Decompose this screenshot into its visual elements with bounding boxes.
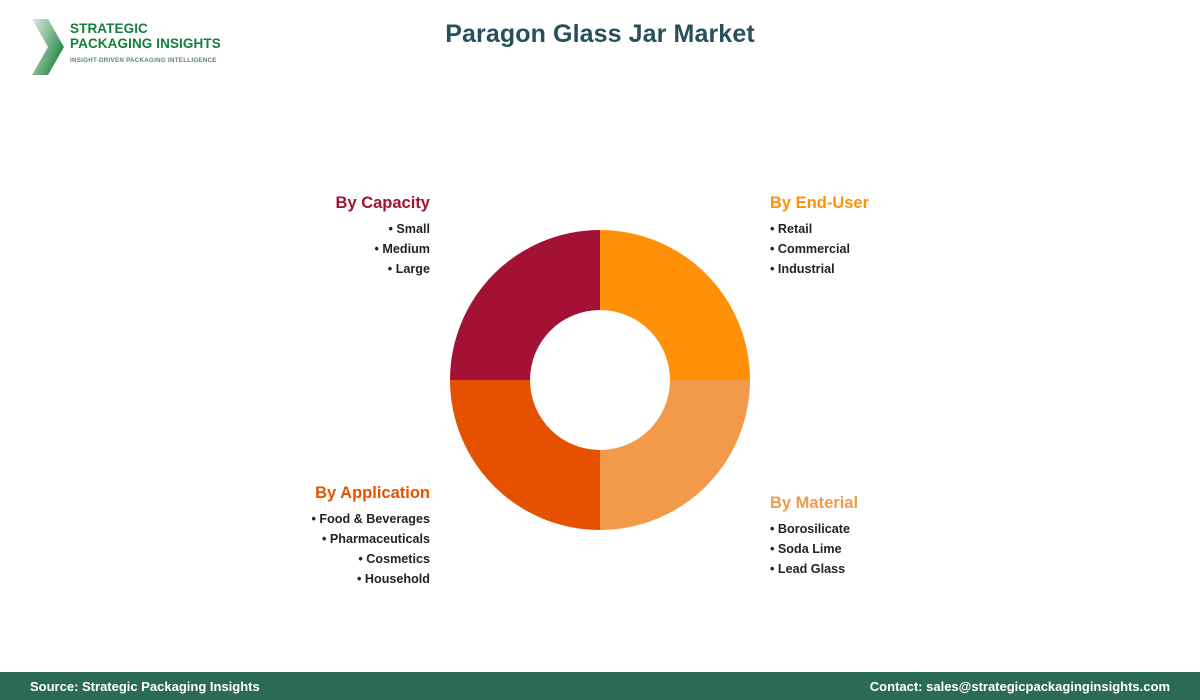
segment-list-capacity: • Small• Medium• Large — [170, 219, 430, 279]
footer-source: Source: Strategic Packaging Insights — [30, 679, 260, 694]
segment-list-item: • Household — [120, 569, 430, 589]
segment-list-item: • Food & Beverages — [120, 509, 430, 529]
infographic-canvas: STRATEGIC PACKAGING INSIGHTS INSIGHT-DRI… — [0, 0, 1200, 700]
segment-list-item: • Pharmaceuticals — [120, 529, 430, 549]
segment-list-application: • Food & Beverages• Pharmaceuticals• Cos… — [120, 509, 430, 589]
page-title: Paragon Glass Jar Market — [0, 20, 1200, 49]
segment-block-application: By Application • Food & Beverages• Pharm… — [120, 483, 430, 589]
segment-list-item: • Medium — [170, 239, 430, 259]
footer-contact: Contact: sales@strategicpackaginginsight… — [870, 679, 1170, 694]
donut-slice-by-application[interactable] — [450, 380, 600, 530]
segment-list-item: • Lead Glass — [770, 559, 1040, 579]
segment-list-item: • Commercial — [770, 239, 1040, 259]
segment-list-item: • Retail — [770, 219, 1040, 239]
segment-block-material: By Material • Borosilicate• Soda Lime• L… — [770, 493, 1040, 579]
segment-title-material: By Material — [770, 493, 1040, 513]
segment-block-capacity: By Capacity • Small• Medium• Large — [170, 193, 430, 279]
segment-list-item: • Soda Lime — [770, 539, 1040, 559]
segment-list-item: • Borosilicate — [770, 519, 1040, 539]
segment-list-material: • Borosilicate• Soda Lime• Lead Glass — [770, 519, 1040, 579]
donut-slice-by-material[interactable] — [600, 380, 750, 530]
donut-slice-by-end-user[interactable] — [600, 230, 750, 380]
segment-block-end-user: By End-User • Retail• Commercial• Indust… — [770, 193, 1040, 279]
segment-list-item: • Large — [170, 259, 430, 279]
segment-list-item: • Cosmetics — [120, 549, 430, 569]
segment-title-application: By Application — [120, 483, 430, 503]
segment-title-capacity: By Capacity — [170, 193, 430, 213]
segment-list-item: • Industrial — [770, 259, 1040, 279]
donut-chart — [450, 230, 750, 530]
segment-list-end-user: • Retail• Commercial• Industrial — [770, 219, 1040, 279]
donut-slice-by-capacity[interactable] — [450, 230, 600, 380]
logo-tagline: INSIGHT-DRIVEN PACKAGING INTELLIGENCE — [70, 57, 260, 64]
segment-list-item: • Small — [170, 219, 430, 239]
segment-title-end-user: By End-User — [770, 193, 1040, 213]
footer-bar: Source: Strategic Packaging Insights Con… — [0, 672, 1200, 700]
donut-chart-svg — [450, 230, 750, 530]
